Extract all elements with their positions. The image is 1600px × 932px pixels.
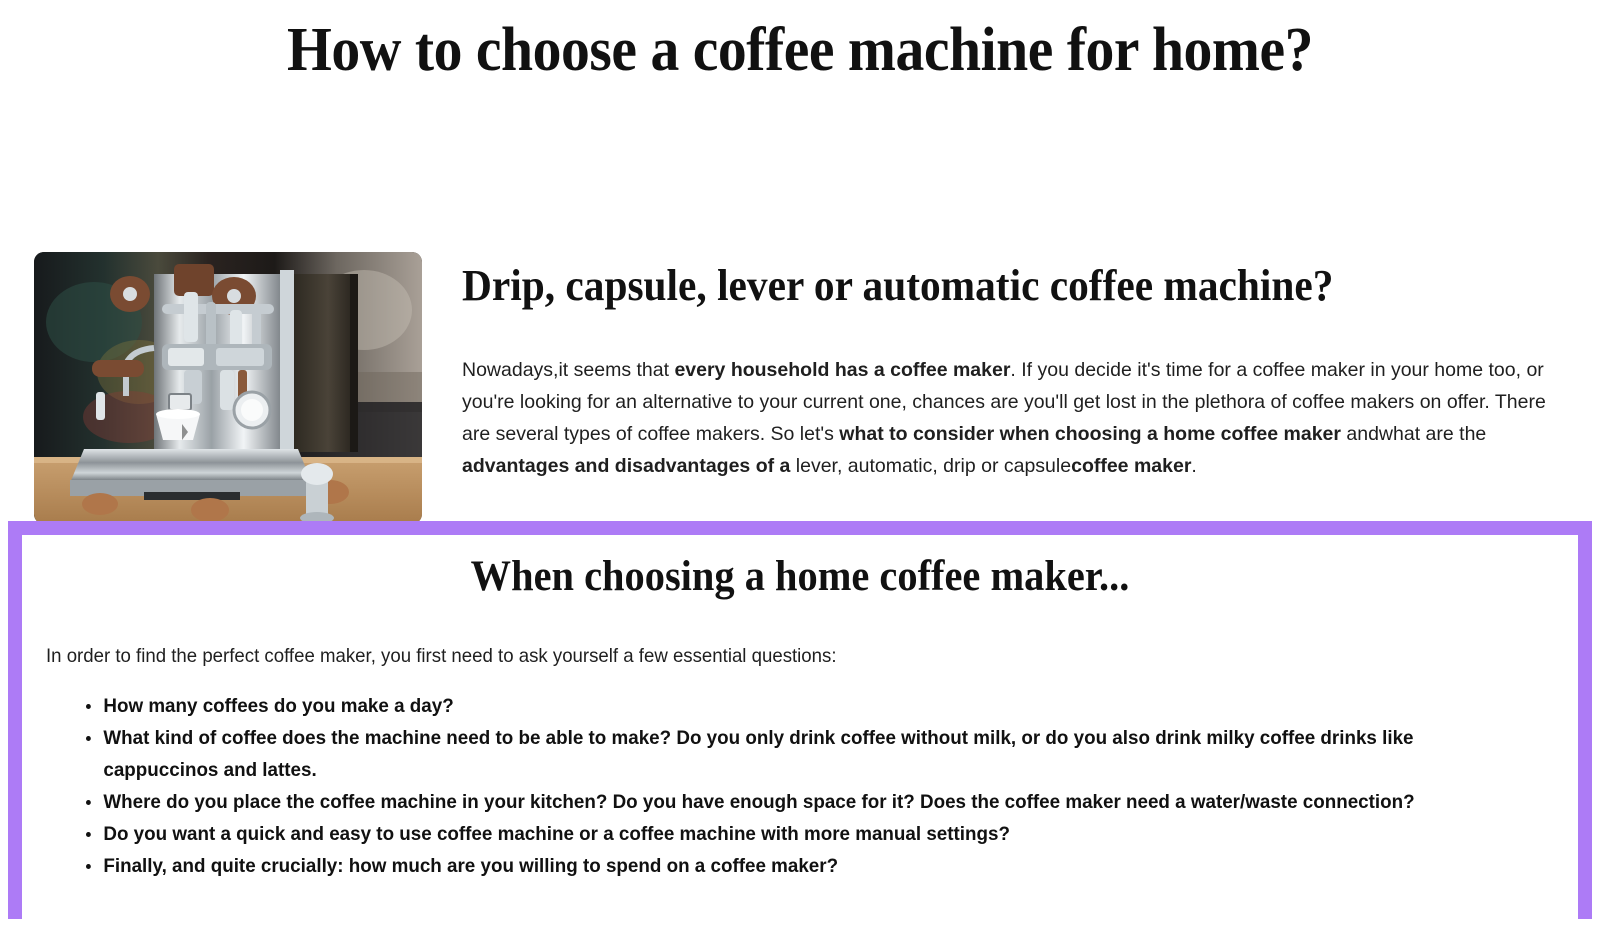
paragraph-text-5: . [1191, 455, 1196, 477]
callout-box: When choosing a home coffee maker... In … [8, 521, 1592, 919]
paragraph-text-4: lever, automatic, drip or capsule [790, 455, 1071, 477]
paragraph-bold-3: advantages and disadvantages of a [462, 455, 790, 477]
callout-heading: When choosing a home coffee maker... [91, 553, 1509, 600]
article-section: Drip, capsule, lever or automatic coffee… [0, 252, 1600, 524]
questions-list: How many coffees do you make a day? What… [46, 690, 1554, 882]
page-title: How to choose a coffee machine for home? [56, 0, 1544, 83]
paragraph-bold-2: what to consider when choosing a home co… [839, 423, 1341, 445]
callout-inner: When choosing a home coffee maker... In … [22, 553, 1578, 923]
list-item: How many coffees do you make a day? [86, 690, 1503, 722]
list-item: Where do you place the coffee machine in… [86, 786, 1503, 818]
espresso-machine-photo [34, 252, 422, 524]
list-item: What kind of coffee does the machine nee… [86, 722, 1503, 786]
article-text: Drip, capsule, lever or automatic coffee… [422, 252, 1566, 482]
list-item: Finally, and quite crucially: how much a… [86, 850, 1503, 882]
article-paragraph: Nowadays,it seems that every household h… [462, 354, 1554, 482]
paragraph-bold-1: every household has a coffee maker [674, 359, 1010, 381]
paragraph-text-1: Nowadays,it seems that [462, 359, 674, 381]
paragraph-bold-4: coffee maker [1071, 455, 1191, 477]
callout-intro: In order to find the perfect coffee make… [46, 642, 1486, 670]
paragraph-text-3: andwhat are the [1341, 423, 1486, 445]
section-heading: Drip, capsule, lever or automatic coffee… [462, 262, 1500, 310]
list-item: Do you want a quick and easy to use coff… [86, 818, 1503, 850]
